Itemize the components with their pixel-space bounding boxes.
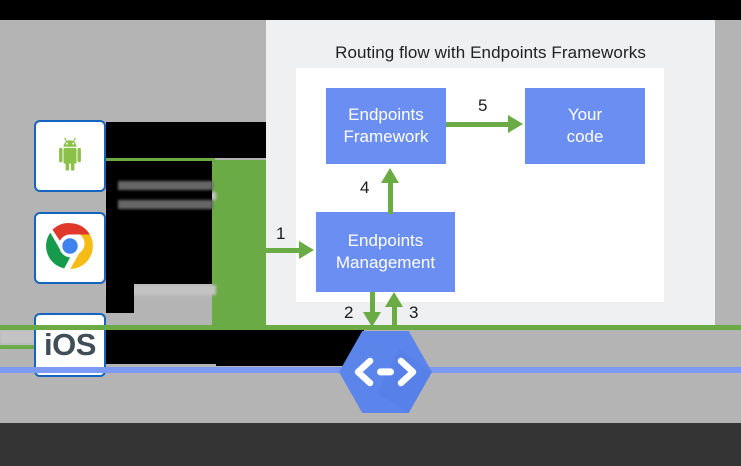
android-icon bbox=[47, 131, 93, 182]
arrow-2-label: 2 bbox=[344, 303, 353, 323]
node-endpoints-management[interactable]: Endpoints Management bbox=[316, 212, 455, 292]
endpoints-service-hexagon-icon[interactable] bbox=[339, 329, 432, 415]
redaction-block bbox=[106, 122, 266, 158]
node-label-line1: Your bbox=[567, 104, 604, 126]
node-label-line1: Endpoints bbox=[336, 230, 435, 252]
obscured-label-line bbox=[118, 181, 213, 190]
node-label-line1: Endpoints bbox=[343, 104, 428, 126]
node-endpoints-framework[interactable]: Endpoints Framework bbox=[326, 88, 446, 164]
node-label-line2: Management bbox=[336, 252, 435, 274]
top-black-bar bbox=[0, 0, 741, 20]
redaction-block bbox=[106, 283, 134, 313]
node-label-line2: Framework bbox=[343, 126, 428, 148]
chrome-icon bbox=[45, 221, 95, 276]
ios-icon: iOS bbox=[44, 327, 96, 363]
redaction-block bbox=[106, 326, 216, 364]
arrow-5-label: 5 bbox=[478, 96, 487, 116]
arrow-3-head-icon bbox=[385, 292, 403, 307]
client-tile-android[interactable] bbox=[34, 120, 106, 192]
client-tile-chrome[interactable] bbox=[34, 212, 106, 284]
arrow-3-label: 3 bbox=[409, 303, 418, 323]
right-gutter bbox=[715, 20, 741, 325]
arrow-4-label: 4 bbox=[360, 178, 369, 198]
arrow-4-line bbox=[388, 178, 393, 214]
page-title: Routing flow with Endpoints Frameworks bbox=[266, 43, 715, 63]
node-label-line2: code bbox=[567, 126, 604, 148]
arrow-1-head-icon bbox=[299, 241, 314, 259]
arrow-1-label: 1 bbox=[276, 224, 285, 244]
obscured-label-line bbox=[118, 200, 213, 209]
arrow-5-line bbox=[446, 122, 512, 127]
arrow-2-head-icon bbox=[363, 312, 381, 327]
bottom-dark-overlay bbox=[0, 423, 741, 466]
client-bus-bar bbox=[212, 160, 266, 330]
arrow-5-head-icon bbox=[508, 115, 523, 133]
redaction-block bbox=[106, 216, 212, 284]
screenshot-stage: iOS Routing flow with Endpoints Framewor… bbox=[0, 0, 741, 466]
arrow-4-head-icon bbox=[381, 168, 399, 183]
arrow-1-line bbox=[266, 248, 302, 253]
node-your-code[interactable]: Your code bbox=[525, 88, 645, 164]
